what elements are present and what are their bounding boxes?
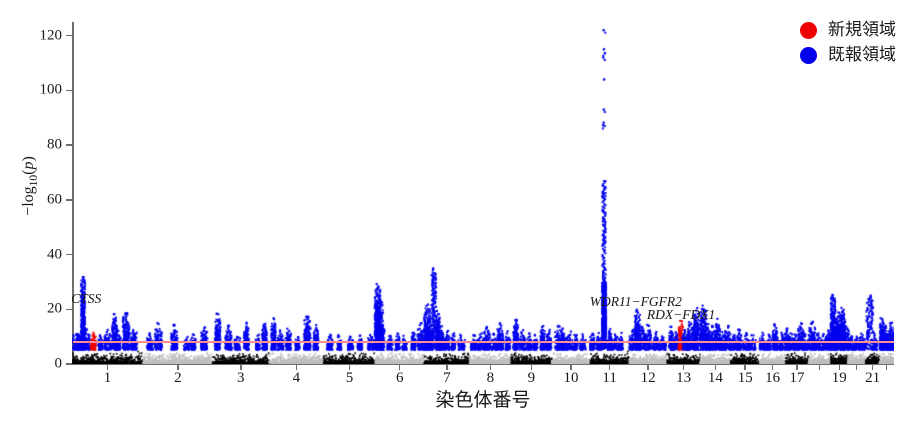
y-tick-label: 40 <box>47 247 62 262</box>
legend-item-reported: 既報領域 <box>800 43 896 68</box>
y-axis-title: −log10(p) <box>20 156 40 216</box>
genome-wide-significance-line <box>73 341 894 343</box>
x-tick-label: 3 <box>237 371 245 386</box>
x-tick-label: 13 <box>676 371 691 386</box>
x-tick-label: 10 <box>563 371 578 386</box>
x-tick-label: 9 <box>528 371 536 386</box>
y-tick-label: 120 <box>40 28 63 43</box>
x-tick-label: 4 <box>293 371 301 386</box>
x-tick-label: 5 <box>346 371 354 386</box>
x-tick-label: 14 <box>708 371 723 386</box>
x-tick-label: 7 <box>443 371 451 386</box>
x-tick-label: 16 <box>765 371 780 386</box>
legend-label: 新規領域 <box>828 22 896 39</box>
legend-label: 既報領域 <box>828 47 896 64</box>
gene-annotation-label: CTSS <box>71 291 101 307</box>
x-axis-title: 染色体番号 <box>435 385 530 412</box>
legend-marker-circle-icon <box>800 22 817 39</box>
x-tick-mark <box>856 364 858 370</box>
x-tick-label: 8 <box>487 371 495 386</box>
x-tick-mark <box>819 364 821 370</box>
x-axis-line <box>72 364 894 366</box>
legend-marker-circle-icon <box>800 47 817 64</box>
x-tick-mark <box>886 364 888 370</box>
x-tick-label: 21 <box>865 371 880 386</box>
x-tick-label: 6 <box>396 371 404 386</box>
plot-area <box>72 22 894 364</box>
y-tick-label: 60 <box>47 192 62 207</box>
x-tick-label: 2 <box>174 371 182 386</box>
gene-annotation-label: RDX−FDX1 <box>647 307 715 323</box>
legend-item-novel: 新規領域 <box>800 18 896 43</box>
legend: 新規領域既報領域 <box>800 18 896 68</box>
x-tick-label: 15 <box>738 371 753 386</box>
x-tick-label: 1 <box>104 371 112 386</box>
y-tick-label: 100 <box>40 83 63 98</box>
manhattan-plot-figure: 020406080100120 −log10(p) CTSSWDR11−FGFR… <box>0 0 920 425</box>
x-tick-label: 11 <box>602 371 616 386</box>
y-tick-label: 20 <box>47 302 62 317</box>
y-tick-label: 80 <box>47 138 62 153</box>
y-tick-label: 0 <box>55 357 63 372</box>
scatter-points-layer <box>72 22 894 364</box>
x-tick-label: 12 <box>641 371 656 386</box>
x-tick-label: 17 <box>790 371 805 386</box>
x-tick-label: 19 <box>832 371 847 386</box>
